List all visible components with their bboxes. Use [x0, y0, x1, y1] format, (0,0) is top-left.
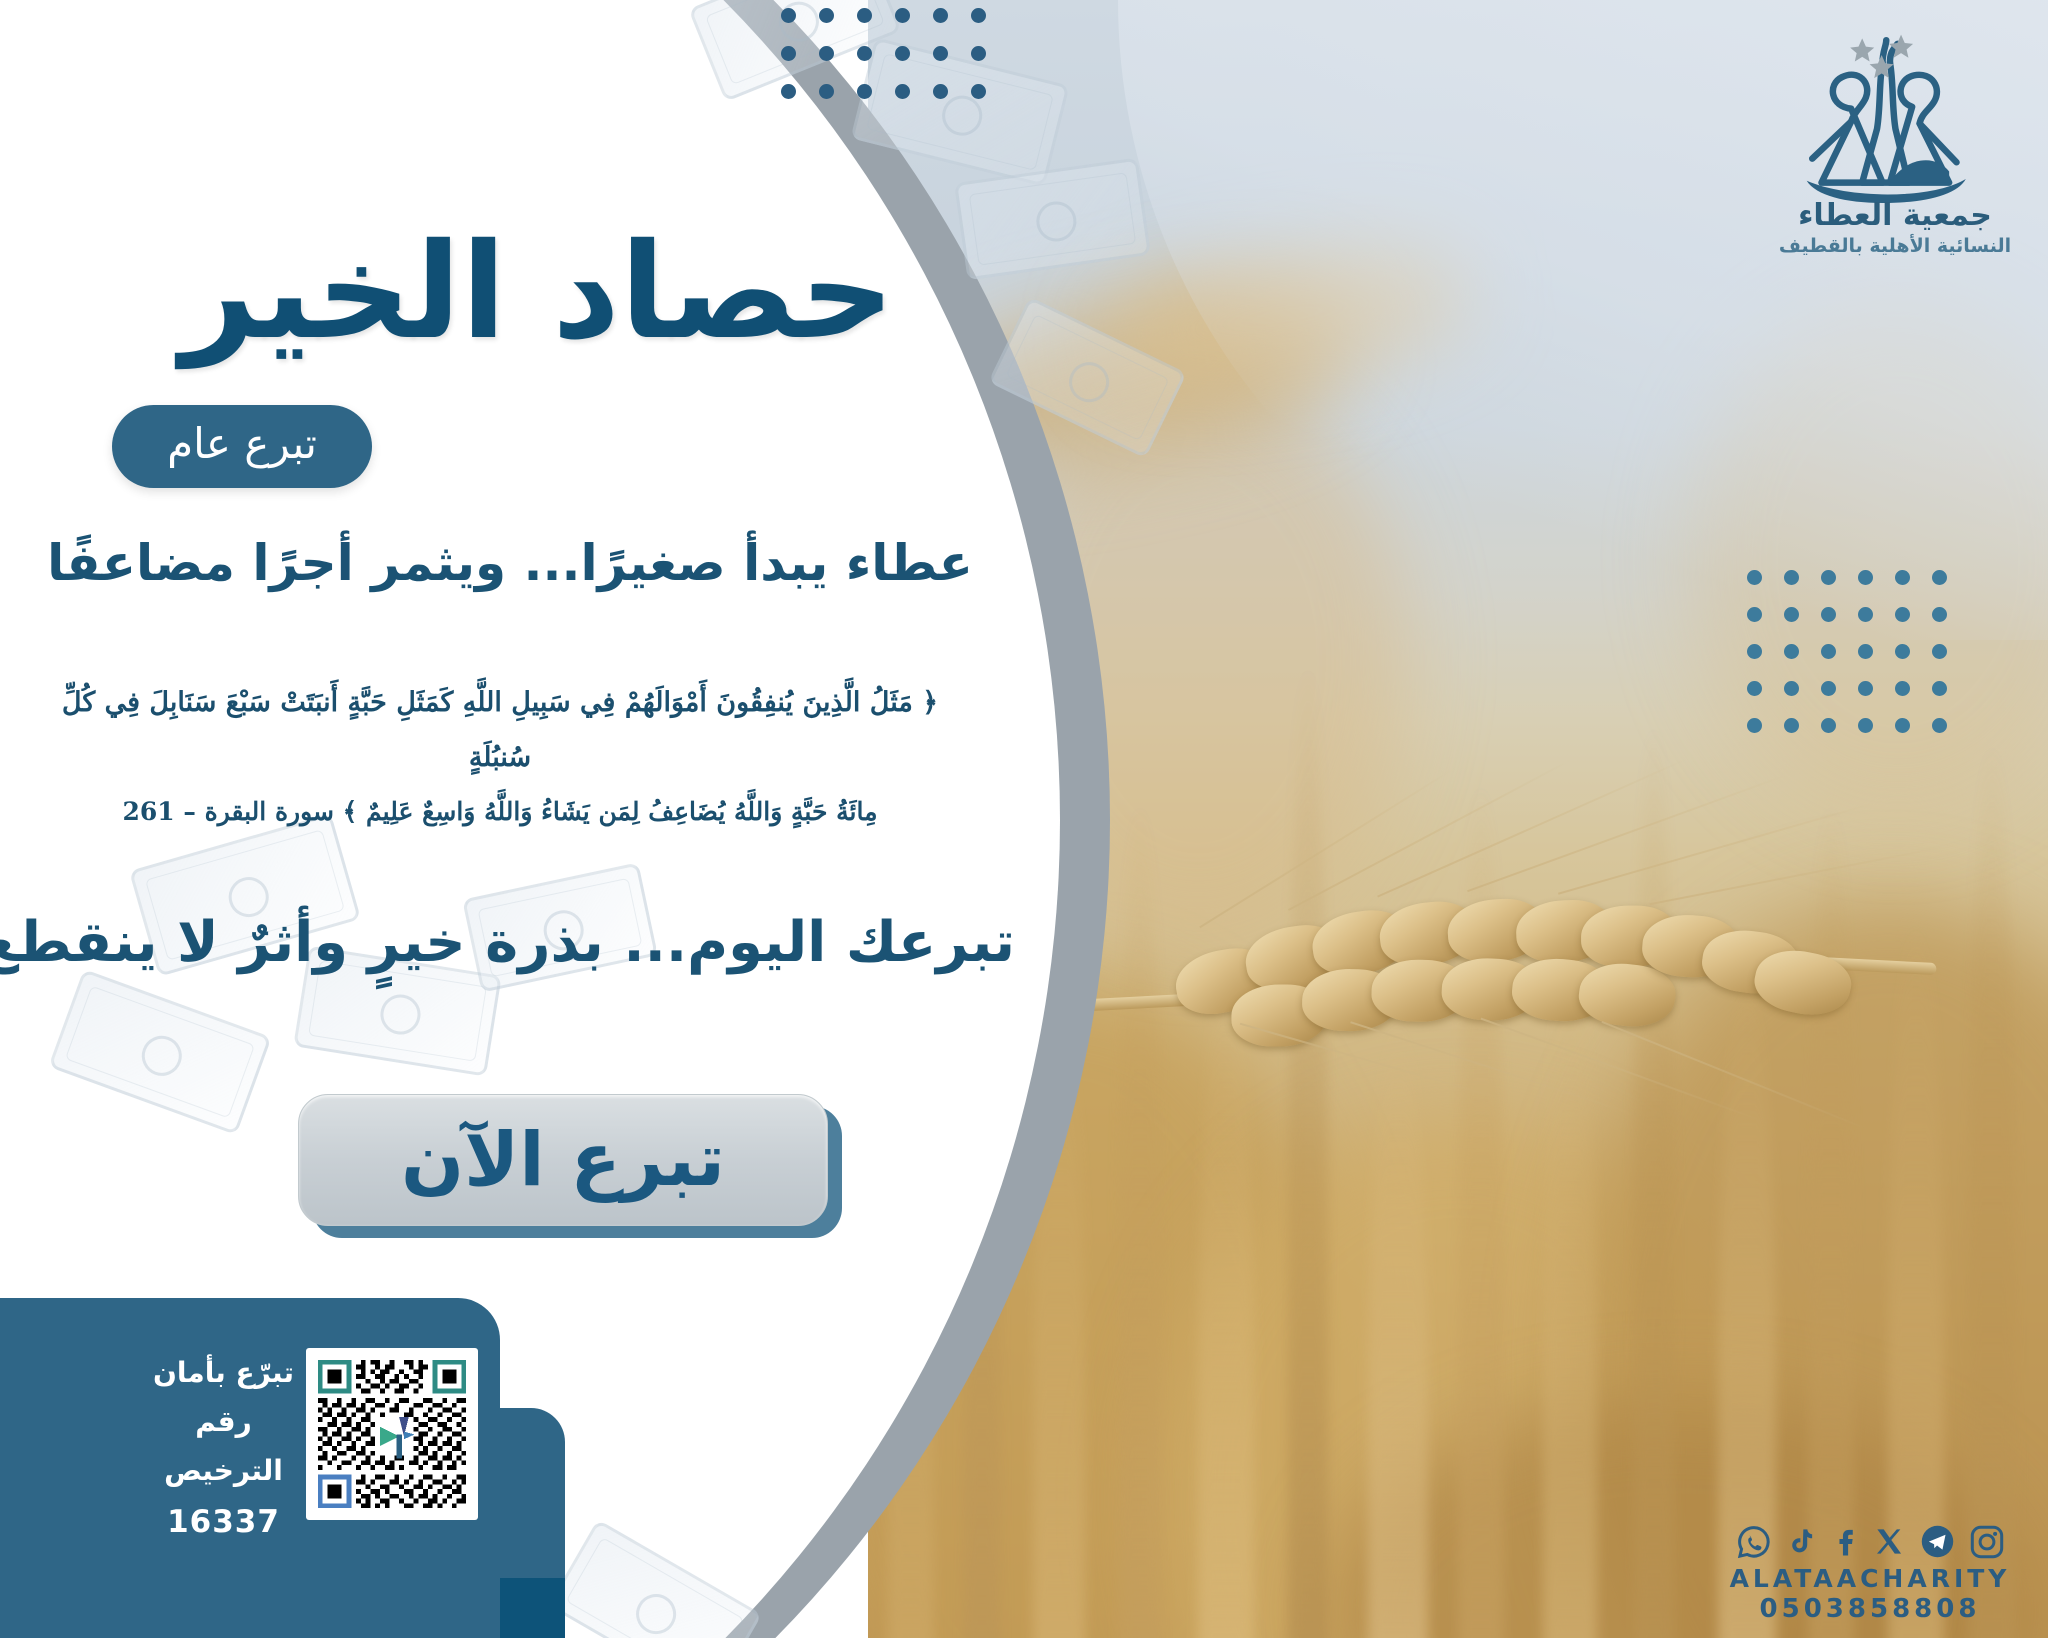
- dot-grid-right: [1725, 570, 1947, 755]
- organization-logo: جمعية العطاء النسائية الأهلية بالقطيف: [1770, 18, 2020, 258]
- tagline-top: عطاء يبدأ صغيرًا... ويثمر أجرًا مضاعفًا: [0, 534, 1020, 592]
- contact-phone: 0503858808: [1710, 1594, 2030, 1624]
- dot-grid-top: [758, 8, 986, 122]
- license-number: 16337: [151, 1495, 296, 1549]
- license-label: رقم الترخيص: [151, 1397, 296, 1495]
- facebook-icon[interactable]: [1829, 1525, 1860, 1558]
- qr-code-button[interactable]: [306, 1348, 478, 1520]
- two-figures-with-stars-logo-icon: [1793, 18, 1998, 203]
- donate-now-button[interactable]: تبرع الآن: [298, 1094, 828, 1226]
- safe-donate-label: تبرّع بأمان: [151, 1348, 296, 1397]
- logo-name: جمعية العطاء: [1770, 199, 2020, 232]
- qr-code-icon: [313, 1355, 471, 1513]
- social-footer: ALATAACHARITY 0503858808: [1710, 1523, 2030, 1624]
- tiktok-icon[interactable]: [1785, 1525, 1816, 1558]
- page-title: حصاد الخير: [0, 215, 1075, 369]
- verse-line-2: مِائَةُ حَبَّةٍ وَاللَّهُ يُضَاعِفُ لِمَ…: [30, 786, 970, 837]
- banknote-watermark: [48, 969, 272, 1135]
- instagram-icon[interactable]: [1969, 1524, 2005, 1560]
- banknote-watermark: [548, 1519, 763, 1638]
- license-qr-panel: تبرّع بأمان رقم الترخيص 16337: [0, 1298, 500, 1638]
- verse-line-1: ﴿ مَثَلُ الَّذِينَ يُنفِقُونَ أَمْوَالَه…: [30, 675, 970, 786]
- whatsapp-icon[interactable]: [1736, 1524, 1772, 1560]
- donation-poster: حصاد الخير تبرع عام عطاء يبدأ صغيرًا... …: [0, 0, 2048, 1638]
- logo-subtitle: النسائية الأهلية بالقطيف: [1770, 235, 2020, 258]
- social-handle: ALATAACHARITY: [1710, 1564, 2030, 1593]
- quran-verse: ﴿ مَثَلُ الَّذِينَ يُنفِقُونَ أَمْوَالَه…: [30, 675, 970, 837]
- license-text-block: تبرّع بأمان رقم الترخيص 16337: [151, 1348, 306, 1549]
- x-twitter-icon[interactable]: [1873, 1525, 1906, 1558]
- status-badge: تبرع عام: [112, 405, 372, 488]
- social-icon-row: [1710, 1523, 2030, 1560]
- telegram-icon[interactable]: [1919, 1523, 1956, 1560]
- tagline-bottom: تبرعك اليوم... بذرة خيرٍ وأثرٌ لا ينقطع: [0, 910, 1015, 975]
